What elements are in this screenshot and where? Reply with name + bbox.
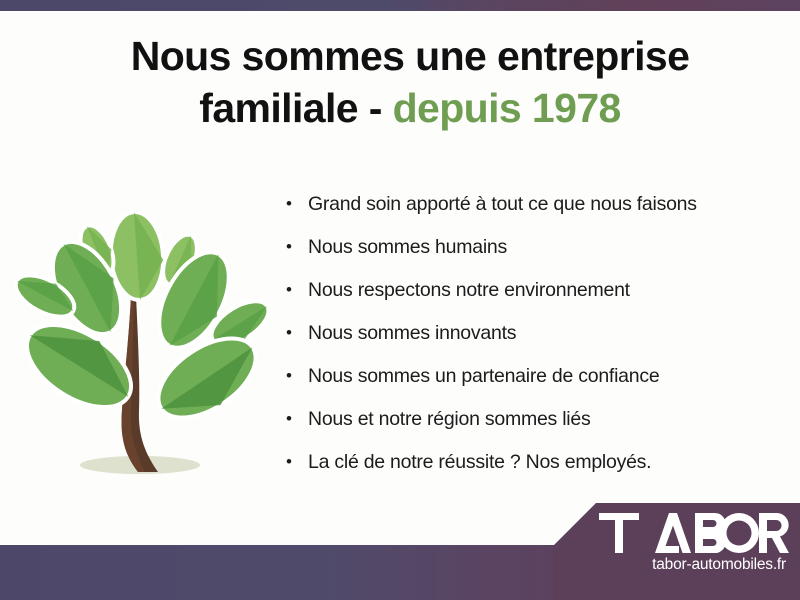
brand-logo-panel: tabor-automobiles.fr <box>553 503 800 600</box>
list-item: • Nous et notre région sommes liés <box>286 407 766 450</box>
list-item: • Nous sommes un partenaire de confiance <box>286 364 766 407</box>
bullet-marker-icon: • <box>286 364 308 388</box>
list-item: • Nous sommes humains <box>286 235 766 278</box>
bullet-marker-icon: • <box>286 278 308 302</box>
list-item: • Nous sommes innovants <box>286 321 766 364</box>
tree-illustration <box>12 188 274 488</box>
list-item: • La clé de notre réussite ? Nos employé… <box>286 450 766 493</box>
tree-graphic <box>12 188 274 488</box>
list-item-label: Nous sommes humains <box>308 235 507 259</box>
title-line-2-plain: familiale - <box>199 85 392 131</box>
page-title: Nous sommes une entreprise familiale - d… <box>60 33 760 132</box>
list-item-label: Nous et notre région sommes liés <box>308 407 590 431</box>
list-item: • Grand soin apporté à tout ce que nous … <box>286 192 766 235</box>
bullet-marker-icon: • <box>286 407 308 431</box>
list-item-label: Nous respectons notre environnement <box>308 278 630 302</box>
list-item-label: Grand soin apporté à tout ce que nous fa… <box>308 192 697 216</box>
bullet-marker-icon: • <box>286 450 308 474</box>
title-line-1: Nous sommes une entreprise <box>60 33 760 79</box>
bullet-marker-icon: • <box>286 235 308 259</box>
bullet-marker-icon: • <box>286 192 308 216</box>
list-item: • Nous respectons notre environnement <box>286 278 766 321</box>
list-item-label: La clé de notre réussite ? Nos employés. <box>308 450 651 474</box>
title-line-2-accent: depuis 1978 <box>393 85 621 131</box>
slide-canvas: Nous sommes une entreprise familiale - d… <box>0 0 800 600</box>
tabor-wordmark-icon <box>599 513 789 553</box>
website-url: tabor-automobiles.fr <box>553 556 800 574</box>
list-item-label: Nous sommes un partenaire de confiance <box>308 364 659 388</box>
list-item-label: Nous sommes innovants <box>308 321 516 345</box>
top-accent-bar <box>0 0 800 11</box>
bullet-marker-icon: • <box>286 321 308 345</box>
bullet-list: • Grand soin apporté à tout ce que nous … <box>286 192 766 493</box>
title-line-2: familiale - depuis 1978 <box>60 85 760 131</box>
